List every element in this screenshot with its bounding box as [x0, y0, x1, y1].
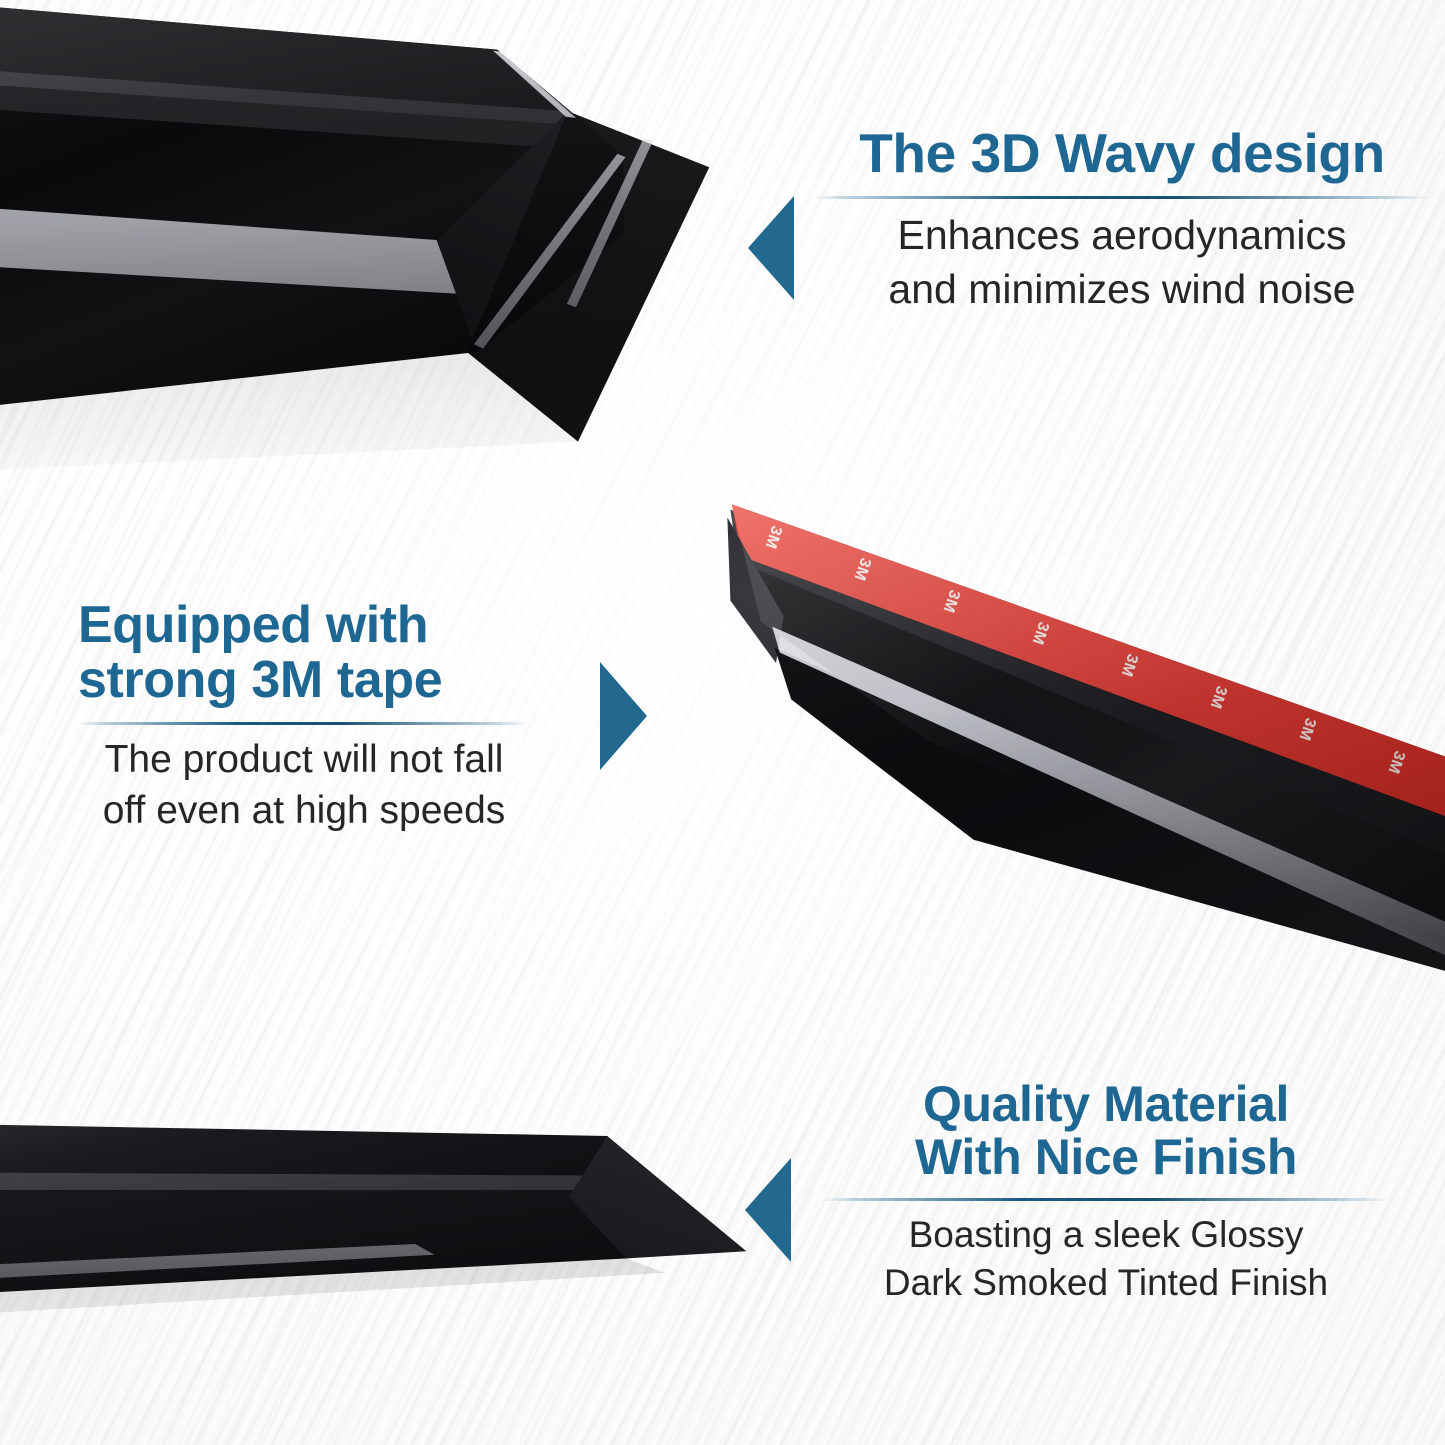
callout-wavy-divider	[812, 196, 1432, 199]
callout-quality-body-line1: Boasting a sleek Glossy	[909, 1214, 1304, 1255]
callout-wavy-body-line1: Enhances aerodynamics	[898, 212, 1347, 258]
product-image-visor-bottom	[0, 1100, 780, 1445]
callout-quality-heading-line2: With Nice Finish	[915, 1129, 1297, 1185]
tape-label-3m: 3M	[1294, 716, 1319, 744]
callout-tape-divider	[78, 722, 530, 725]
product-image-visor-top	[0, 0, 780, 520]
callout-quality-heading: Quality Material With Nice Finish	[822, 1078, 1390, 1184]
tape-label-3m: 3M	[1205, 683, 1230, 711]
callout-quality-divider	[822, 1198, 1390, 1201]
callout-wavy-design: The 3D Wavy design Enhances aerodynamics…	[812, 124, 1432, 316]
callout-tape-body-line2: off even at high speeds	[103, 789, 506, 832]
product-infographic: 3M3M3M3M3M3M3M3M The 3D Wavy design Enha…	[0, 0, 1445, 1445]
callout-wavy-body-line2: and minimizes wind noise	[888, 266, 1355, 312]
callout-tape-body-line1: The product will not fall	[105, 738, 504, 781]
callout-tape-heading-line2: strong 3M tape	[78, 651, 442, 709]
arrow-left-icon-wavy	[748, 196, 794, 300]
callout-wavy-body: Enhances aerodynamics and minimizes wind…	[812, 209, 1432, 316]
callout-quality-material: Quality Material With Nice Finish Boasti…	[822, 1078, 1390, 1307]
callout-tape-heading-line1: Equipped with	[78, 596, 428, 654]
callout-3m-tape: Equipped with strong 3M tape The product…	[78, 598, 530, 837]
tape-label-3m: 3M	[1116, 651, 1141, 679]
tape-label-3m: 3M	[760, 523, 785, 551]
callout-quality-heading-line1: Quality Material	[923, 1076, 1289, 1132]
arrow-left-icon-quality	[745, 1158, 791, 1262]
product-image-visor-with-3m-tape: 3M3M3M3M3M3M3M3M	[700, 455, 1445, 975]
arrow-right-icon-tape	[600, 662, 647, 770]
callout-wavy-heading: The 3D Wavy design	[812, 124, 1432, 182]
callout-quality-body: Boasting a sleek Glossy Dark Smoked Tint…	[822, 1211, 1390, 1307]
callout-quality-body-line2: Dark Smoked Tinted Finish	[884, 1262, 1328, 1303]
tape-label-3m: 3M	[1027, 619, 1052, 647]
tape-label-3m: 3M	[1383, 748, 1408, 776]
tape-label-3m: 3M	[849, 555, 874, 583]
tape-label-3m: 3M	[938, 587, 963, 615]
callout-tape-heading: Equipped with strong 3M tape	[78, 598, 530, 708]
callout-tape-body: The product will not fall off even at hi…	[78, 735, 530, 836]
